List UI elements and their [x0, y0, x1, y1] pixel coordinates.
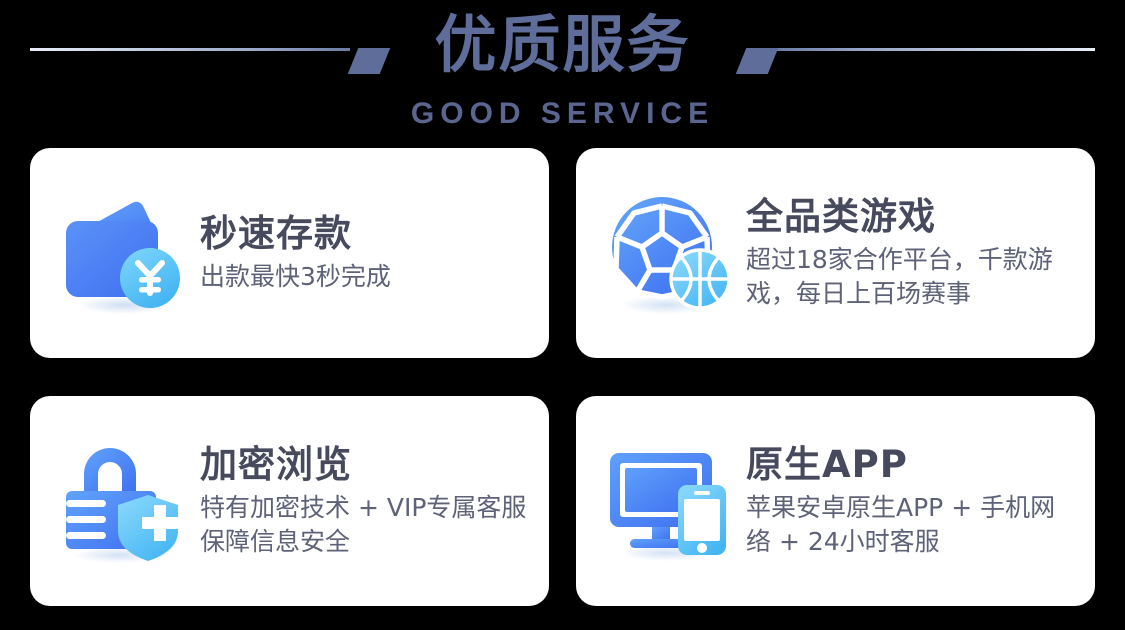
card-description: 出款最快3秒完成 [200, 260, 531, 294]
card-text-block: 全品类游戏 超过18家合作平台，千款游戏，每日上百场赛事 [746, 196, 1077, 310]
card-description: 超过18家合作平台，千款游戏，每日上百场赛事 [746, 243, 1077, 310]
card-description: 苹果安卓原生APP + 手机网络 + 24小时客服 [746, 491, 1077, 558]
card-text-block: 加密浏览 特有加密技术 + VIP专属客服保障信息安全 [200, 444, 531, 558]
card-title: 全品类游戏 [746, 196, 1077, 237]
feature-card-games[interactable]: 全品类游戏 超过18家合作平台，千款游戏，每日上百场赛事 [576, 148, 1095, 358]
feature-card-native-app[interactable]: 原生APP 苹果安卓原生APP + 手机网络 + 24小时客服 [576, 396, 1095, 606]
page-title: 优质服务 [0, 8, 1125, 81]
feature-card-deposit[interactable]: 秒速存款 出款最快3秒完成 [30, 148, 549, 358]
card-title: 加密浏览 [200, 444, 531, 485]
card-text-block: 原生APP 苹果安卓原生APP + 手机网络 + 24小时客服 [746, 444, 1077, 558]
card-text-block: 秒速存款 出款最快3秒完成 [200, 213, 531, 294]
card-title: 秒速存款 [200, 213, 531, 254]
page-subtitle: GOOD SERVICE [0, 97, 1125, 131]
feature-card-grid: 秒速存款 出款最快3秒完成 [30, 148, 1095, 606]
wallet-yen-icon [58, 189, 186, 317]
card-title: 原生APP [746, 444, 1077, 485]
feature-card-encryption[interactable]: 加密浏览 特有加密技术 + VIP专属客服保障信息安全 [30, 396, 549, 606]
soccer-basketball-icon [604, 189, 732, 317]
monitor-phone-icon [604, 437, 732, 565]
card-description: 特有加密技术 + VIP专属客服保障信息安全 [200, 491, 531, 558]
lock-shield-icon [58, 437, 186, 565]
page-header: 优质服务 GOOD SERVICE [0, 0, 1125, 140]
